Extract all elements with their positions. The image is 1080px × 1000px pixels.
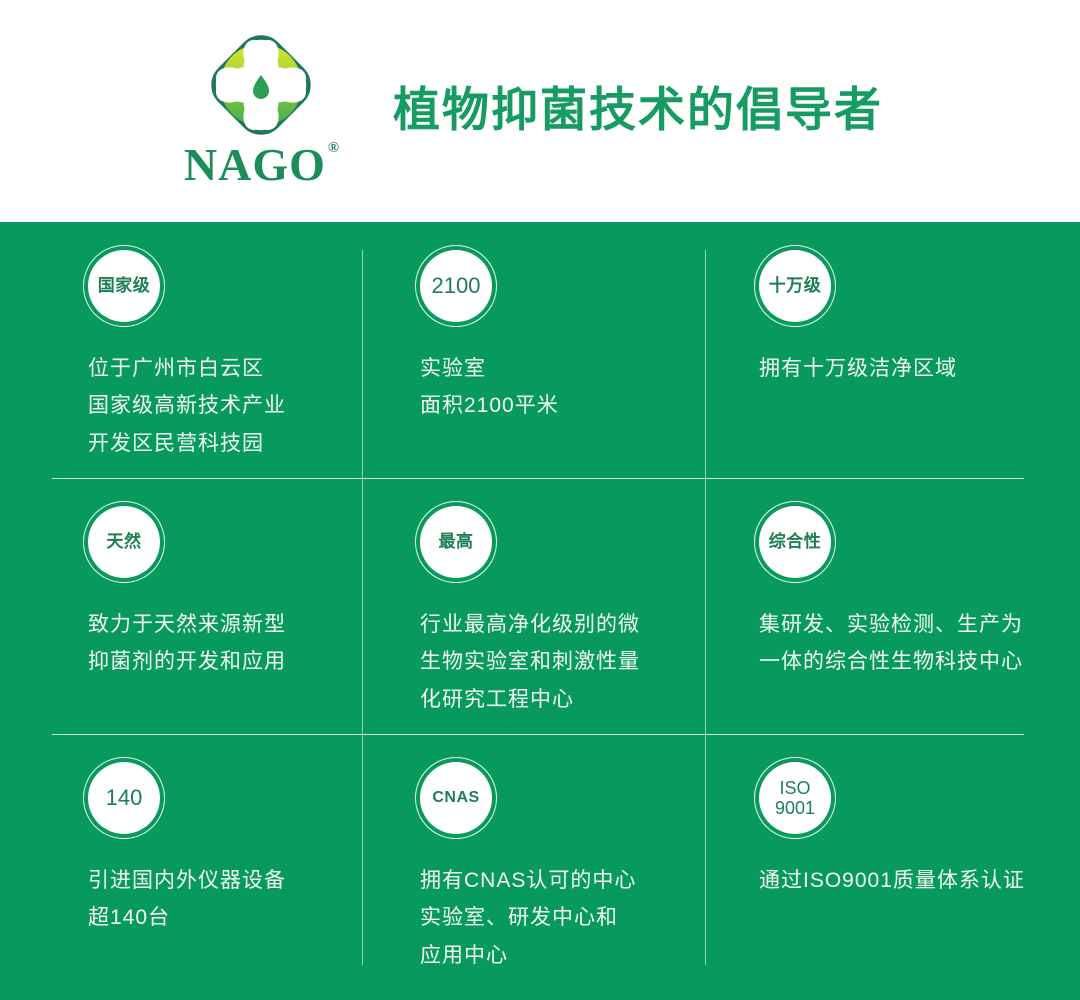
grid-divider-horizontal-1 xyxy=(52,478,1024,479)
feature-badge-2: 2100 xyxy=(420,250,492,322)
feature-cell-3: 十万级 拥有十万级洁净区域 xyxy=(705,222,1080,478)
poster-page: NAGO® 植物抑菌技术的倡导者 国家级 位于广州市白云区 国家级高新技术产业 … xyxy=(0,0,1080,1000)
feature-badge-label-8: CNAS xyxy=(432,789,479,807)
feature-badge-3: 十万级 xyxy=(759,250,831,322)
feature-body-8: 拥有CNAS认可的中心 实验室、研发中心和 应用中心 xyxy=(420,862,705,974)
features-grid: 国家级 位于广州市白云区 国家级高新技术产业 开发区民营科技园 2100 实验室… xyxy=(0,222,1080,1000)
feature-badge-4: 天然 xyxy=(88,506,160,578)
feature-badge-label-1: 国家级 xyxy=(98,276,151,295)
feature-body-9: 通过ISO9001质量体系认证 xyxy=(759,862,1080,899)
logo-wordmark: NAGO® xyxy=(184,142,338,188)
feature-cell-9: ISO 9001 通过ISO9001质量体系认证 xyxy=(705,734,1080,1000)
feature-cell-8: CNAS 拥有CNAS认可的中心 实验室、研发中心和 应用中心 xyxy=(362,734,705,1000)
feature-cell-7: 140 引进国内外仪器设备 超140台 xyxy=(0,734,362,1000)
feature-cell-6: 综合性 集研发、实验检测、生产为 一体的综合性生物科技中心 xyxy=(705,478,1080,734)
grid-divider-vertical-2 xyxy=(705,250,706,965)
feature-badge-6: 综合性 xyxy=(759,506,831,578)
page-title: 植物抑菌技术的倡导者 xyxy=(393,84,883,136)
feature-cell-2: 2100 实验室 面积2100平米 xyxy=(362,222,705,478)
feature-badge-label-3: 十万级 xyxy=(769,276,822,295)
brand-logo: NAGO® xyxy=(185,22,337,190)
feature-cell-4: 天然 致力于天然来源新型 抑菌剂的开发和应用 xyxy=(0,478,362,734)
feature-body-4: 致力于天然来源新型 抑菌剂的开发和应用 xyxy=(88,606,362,681)
feature-badge-label-6: 综合性 xyxy=(769,532,822,551)
logo-wordmark-text: NAGO xyxy=(184,139,326,190)
feature-body-1: 位于广州市白云区 国家级高新技术产业 开发区民营科技园 xyxy=(88,350,362,462)
feature-badge-label-5: 最高 xyxy=(439,532,474,551)
feature-cell-5: 最高 行业最高净化级别的微 生物实验室和刺激性量 化研究工程中心 xyxy=(362,478,705,734)
grid-divider-horizontal-2 xyxy=(52,734,1024,735)
feature-badge-9: ISO 9001 xyxy=(759,762,831,834)
feature-body-3: 拥有十万级洁净区域 xyxy=(759,350,1080,387)
feature-badge-label-2: 2100 xyxy=(432,274,481,299)
feature-badge-5: 最高 xyxy=(420,506,492,578)
feature-body-2: 实验室 面积2100平米 xyxy=(420,350,705,425)
feature-badge-8: CNAS xyxy=(420,762,492,834)
grid-divider-vertical-1 xyxy=(362,250,363,965)
features-panel: 国家级 位于广州市白云区 国家级高新技术产业 开发区民营科技园 2100 实验室… xyxy=(0,222,1080,1000)
registered-mark-icon: ® xyxy=(328,140,340,156)
feature-body-6: 集研发、实验检测、生产为 一体的综合性生物科技中心 xyxy=(759,606,1080,681)
feature-body-7: 引进国内外仪器设备 超140台 xyxy=(88,862,362,937)
nago-flower-logo-icon xyxy=(198,22,324,148)
feature-cell-1: 国家级 位于广州市白云区 国家级高新技术产业 开发区民营科技园 xyxy=(0,222,362,478)
feature-body-5: 行业最高净化级别的微 生物实验室和刺激性量 化研究工程中心 xyxy=(420,606,705,718)
feature-badge-1: 国家级 xyxy=(88,250,160,322)
feature-badge-label-7: 140 xyxy=(106,786,143,811)
header: NAGO® 植物抑菌技术的倡导者 xyxy=(0,0,1080,222)
feature-badge-7: 140 xyxy=(88,762,160,834)
feature-badge-label-9: ISO 9001 xyxy=(775,778,815,818)
feature-badge-label-4: 天然 xyxy=(107,532,142,551)
